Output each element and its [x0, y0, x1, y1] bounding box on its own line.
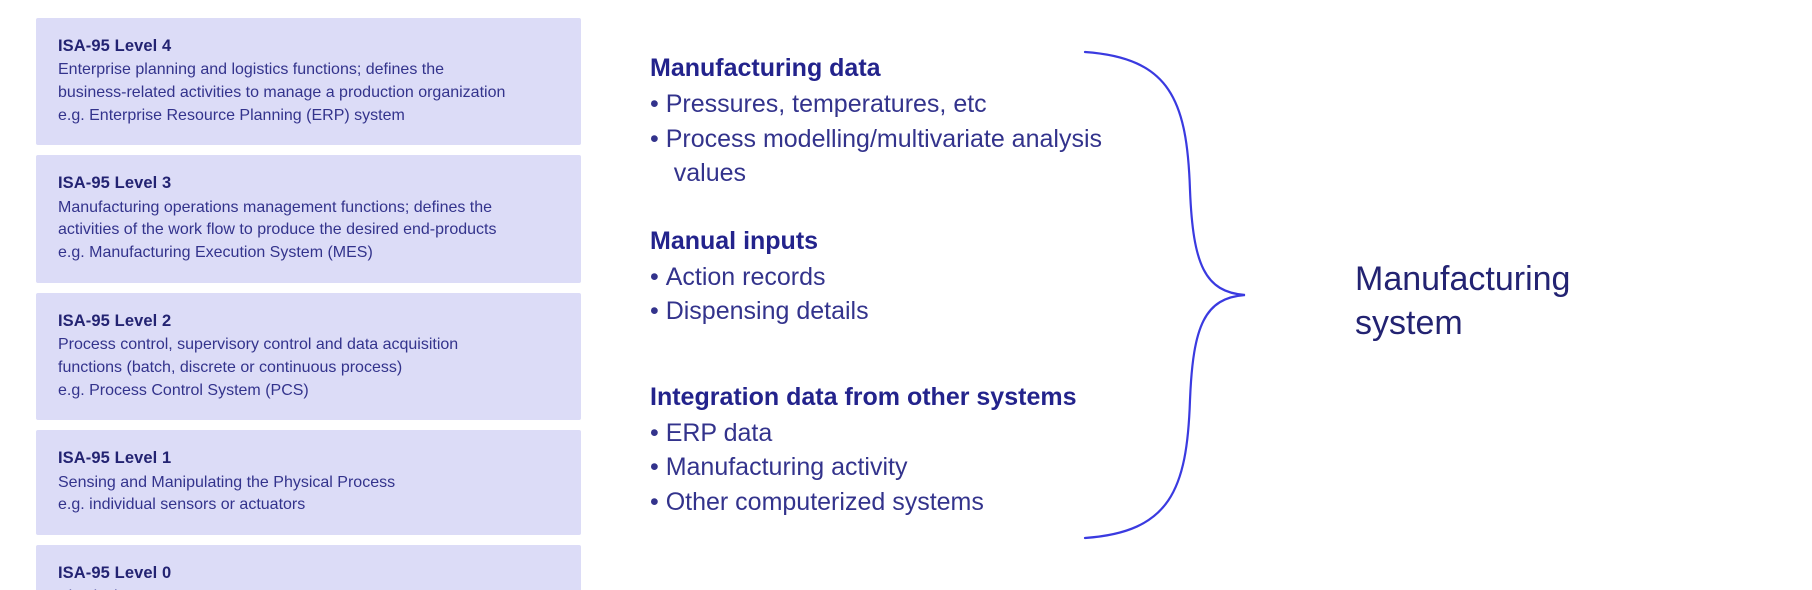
list-item: Manufacturing activity [650, 450, 1120, 485]
group-title: Manual inputs [650, 225, 1120, 257]
level-title: ISA-95 Level 4 [58, 35, 561, 57]
level-box-3: ISA-95 Level 3 Manufacturing operations … [36, 155, 581, 282]
list-item: Pressures, temperatures, etc [650, 87, 1120, 122]
level-description: Physical Process [58, 586, 561, 590]
level-description: Sensing and Manipulating the Physical Pr… [58, 472, 561, 517]
list-item: Process modelling/multivariate analysis … [650, 122, 1120, 191]
data-groups-column: Manufacturing data Pressures, temperatur… [650, 52, 1120, 519]
level-title: ISA-95 Level 2 [58, 310, 561, 332]
level-box-0: ISA-95 Level 0 Physical Process [36, 545, 581, 590]
list-item: Action records [650, 260, 1120, 295]
group-item-list: Action records Dispensing details [650, 260, 1120, 329]
group-item-list: Pressures, temperatures, etc Process mod… [650, 87, 1120, 191]
level-box-4: ISA-95 Level 4 Enterprise planning and l… [36, 18, 581, 145]
group-manufacturing-data: Manufacturing data Pressures, temperatur… [650, 52, 1120, 191]
diagram-canvas: ISA-95 Level 4 Enterprise planning and l… [0, 0, 1812, 590]
group-title: Integration data from other systems [650, 381, 1120, 413]
group-integration-data: Integration data from other systems ERP … [650, 381, 1120, 520]
level-box-1: ISA-95 Level 1 Sensing and Manipulating … [36, 430, 581, 535]
list-item: Other computerized systems [650, 485, 1120, 520]
level-title: ISA-95 Level 1 [58, 447, 561, 469]
group-title: Manufacturing data [650, 52, 1120, 84]
level-box-2: ISA-95 Level 2 Process control, supervis… [36, 293, 581, 420]
isa95-levels-column: ISA-95 Level 4 Enterprise planning and l… [36, 18, 581, 590]
curly-brace-right-icon [1075, 40, 1335, 550]
level-description: Process control, supervisory control and… [58, 334, 561, 402]
list-item: Dispensing details [650, 294, 1120, 329]
level-description: Manufacturing operations management func… [58, 197, 561, 265]
level-title: ISA-95 Level 0 [58, 562, 561, 584]
level-description: Enterprise planning and logistics functi… [58, 59, 561, 127]
level-title: ISA-95 Level 3 [58, 172, 561, 194]
group-item-list: ERP data Manufacturing activity Other co… [650, 416, 1120, 520]
manufacturing-system-label: Manufacturing system [1355, 258, 1685, 345]
group-manual-inputs: Manual inputs Action records Dispensing … [650, 225, 1120, 329]
list-item: ERP data [650, 416, 1120, 451]
